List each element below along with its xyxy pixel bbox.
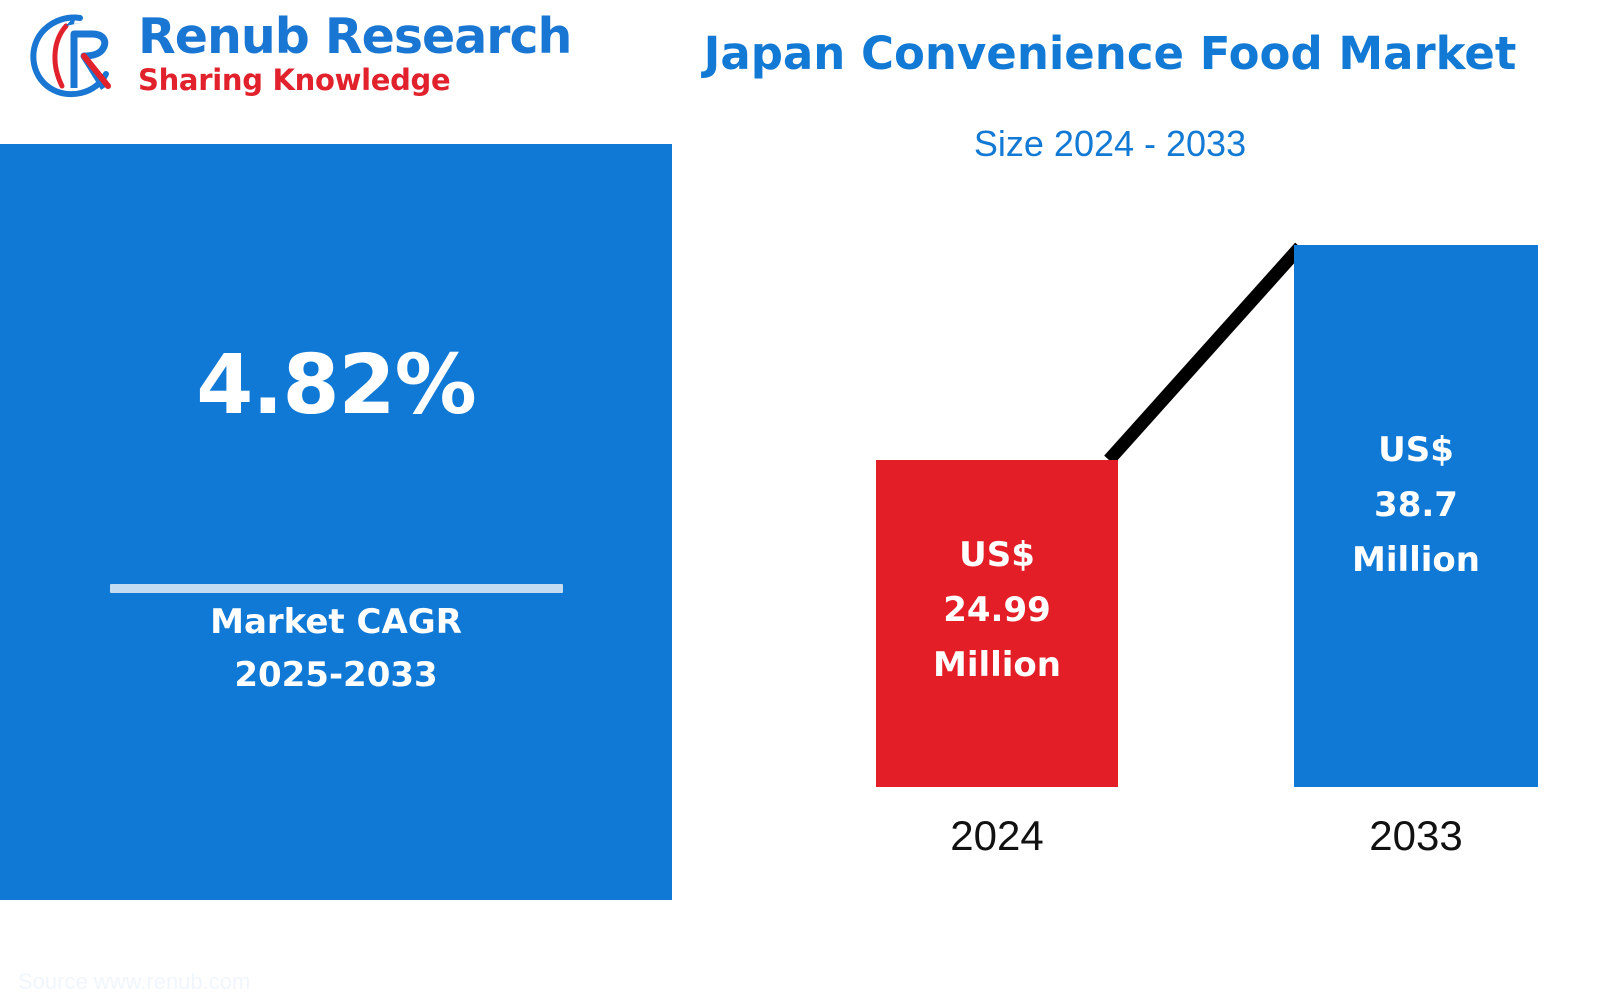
cagr-caption-label: Market CAGR [0,596,672,649]
brand-logo[interactable]: Renub Research Sharing Knowledge [22,6,502,106]
page-subtitle: Size 2024 - 2033 [660,122,1560,166]
bar-2024[interactable]: US$ 24.99 Million [876,460,1118,787]
renub-r-swoosh-logo-icon [22,8,134,104]
bar-2033-currency: US$ [1294,423,1538,478]
axis-label-2024: 2024 [876,810,1118,862]
brand-name: Renub Research [138,10,528,64]
bar-2024-scale: Million [876,638,1118,693]
bar-2033[interactable]: US$ 38.7 Million [1294,245,1538,787]
brand-tagline: Sharing Knowledge [138,64,528,96]
bar-2033-amount: 38.7 [1294,478,1538,533]
cagr-caption: Market CAGR 2025-2033 [0,596,672,702]
bar-2024-currency: US$ [876,528,1118,583]
bar-2033-scale: Million [1294,533,1538,588]
cagr-panel: 4.82% Market CAGR 2025-2033 Source www.r… [0,144,672,900]
cagr-caption-period: 2025-2033 [0,649,672,702]
bar-2024-value-label: US$ 24.99 Million [876,528,1118,693]
cagr-value: 4.82% [0,340,672,432]
source-note: Source www.renub.com [18,968,250,996]
bar-2033-value-label: US$ 38.7 Million [1294,423,1538,588]
bar-2024-amount: 24.99 [876,583,1118,638]
page-title: Japan Convenience Food Market [660,26,1560,82]
bar-chart: US$ 24.99 Million US$ 38.7 Million 2024 … [700,190,1600,900]
cagr-divider [110,584,563,593]
axis-label-2033: 2033 [1294,810,1538,862]
brand-wordmark: Renub Research Sharing Knowledge [138,10,528,96]
